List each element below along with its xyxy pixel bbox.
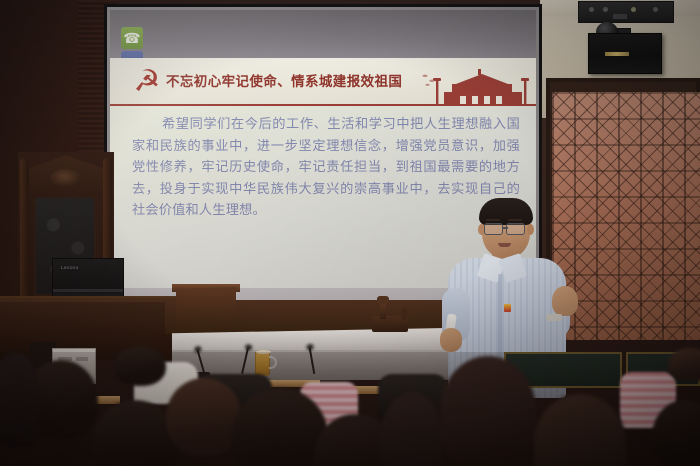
student-long-hair	[534, 394, 626, 466]
wall-mounted-speaker: YAMAHA	[588, 33, 662, 74]
screen-top-letterbox	[110, 10, 536, 60]
rack-knob	[631, 7, 636, 12]
av-control-rack	[578, 1, 674, 23]
student-long-hair	[440, 356, 536, 466]
rack-knob	[603, 7, 608, 12]
tiananmen-gate-illustration	[416, 66, 536, 104]
rack-knob	[589, 7, 594, 12]
hammer-and-sickle-icon: ☭	[130, 66, 164, 98]
student-long-hair	[0, 352, 40, 448]
presenter-mouth	[498, 243, 511, 247]
eyeglasses-bridge	[502, 227, 508, 229]
wristwatch	[546, 314, 562, 321]
monitor-brand-label: Lenovo	[61, 265, 79, 270]
student-head	[668, 348, 700, 382]
speaker-brand-label: YAMAHA	[605, 52, 629, 56]
presenter-eyebrow	[486, 219, 500, 221]
party-emblem-badge	[504, 304, 511, 312]
presenter-left-hand	[440, 328, 462, 352]
gavel	[380, 302, 386, 319]
presenter-ear	[527, 224, 534, 235]
rack-knob	[653, 7, 658, 12]
student-head	[166, 378, 242, 456]
presenter-eyebrow	[508, 219, 522, 221]
slide-title: 不忘初心牢记使命、情系城建报效祖国	[166, 68, 426, 96]
student-head	[92, 400, 178, 466]
phone-call-glyph: ☎	[121, 27, 143, 49]
seated-audience	[0, 352, 700, 466]
monitor-bezel-band	[53, 289, 123, 292]
lecture-hall-photo: YAMAHA ☎ ☺ ☭ 不忘初心牢记使命、情系城建报效祖国	[0, 0, 700, 466]
eyeglasses-lens-left	[484, 223, 503, 235]
phone-call-icon[interactable]: ☎	[121, 27, 143, 49]
student-head	[114, 346, 166, 386]
gavel-holder	[402, 308, 407, 320]
slide-header-banner: ☭ 不忘初心牢记使命、情系城建报效祖国	[110, 58, 536, 106]
chair-post-left	[20, 158, 29, 310]
presenter-right-hand	[552, 286, 578, 316]
wooden-podium	[176, 287, 236, 333]
rack-slot	[613, 14, 627, 19]
eyeglasses-lens-right	[506, 223, 525, 235]
